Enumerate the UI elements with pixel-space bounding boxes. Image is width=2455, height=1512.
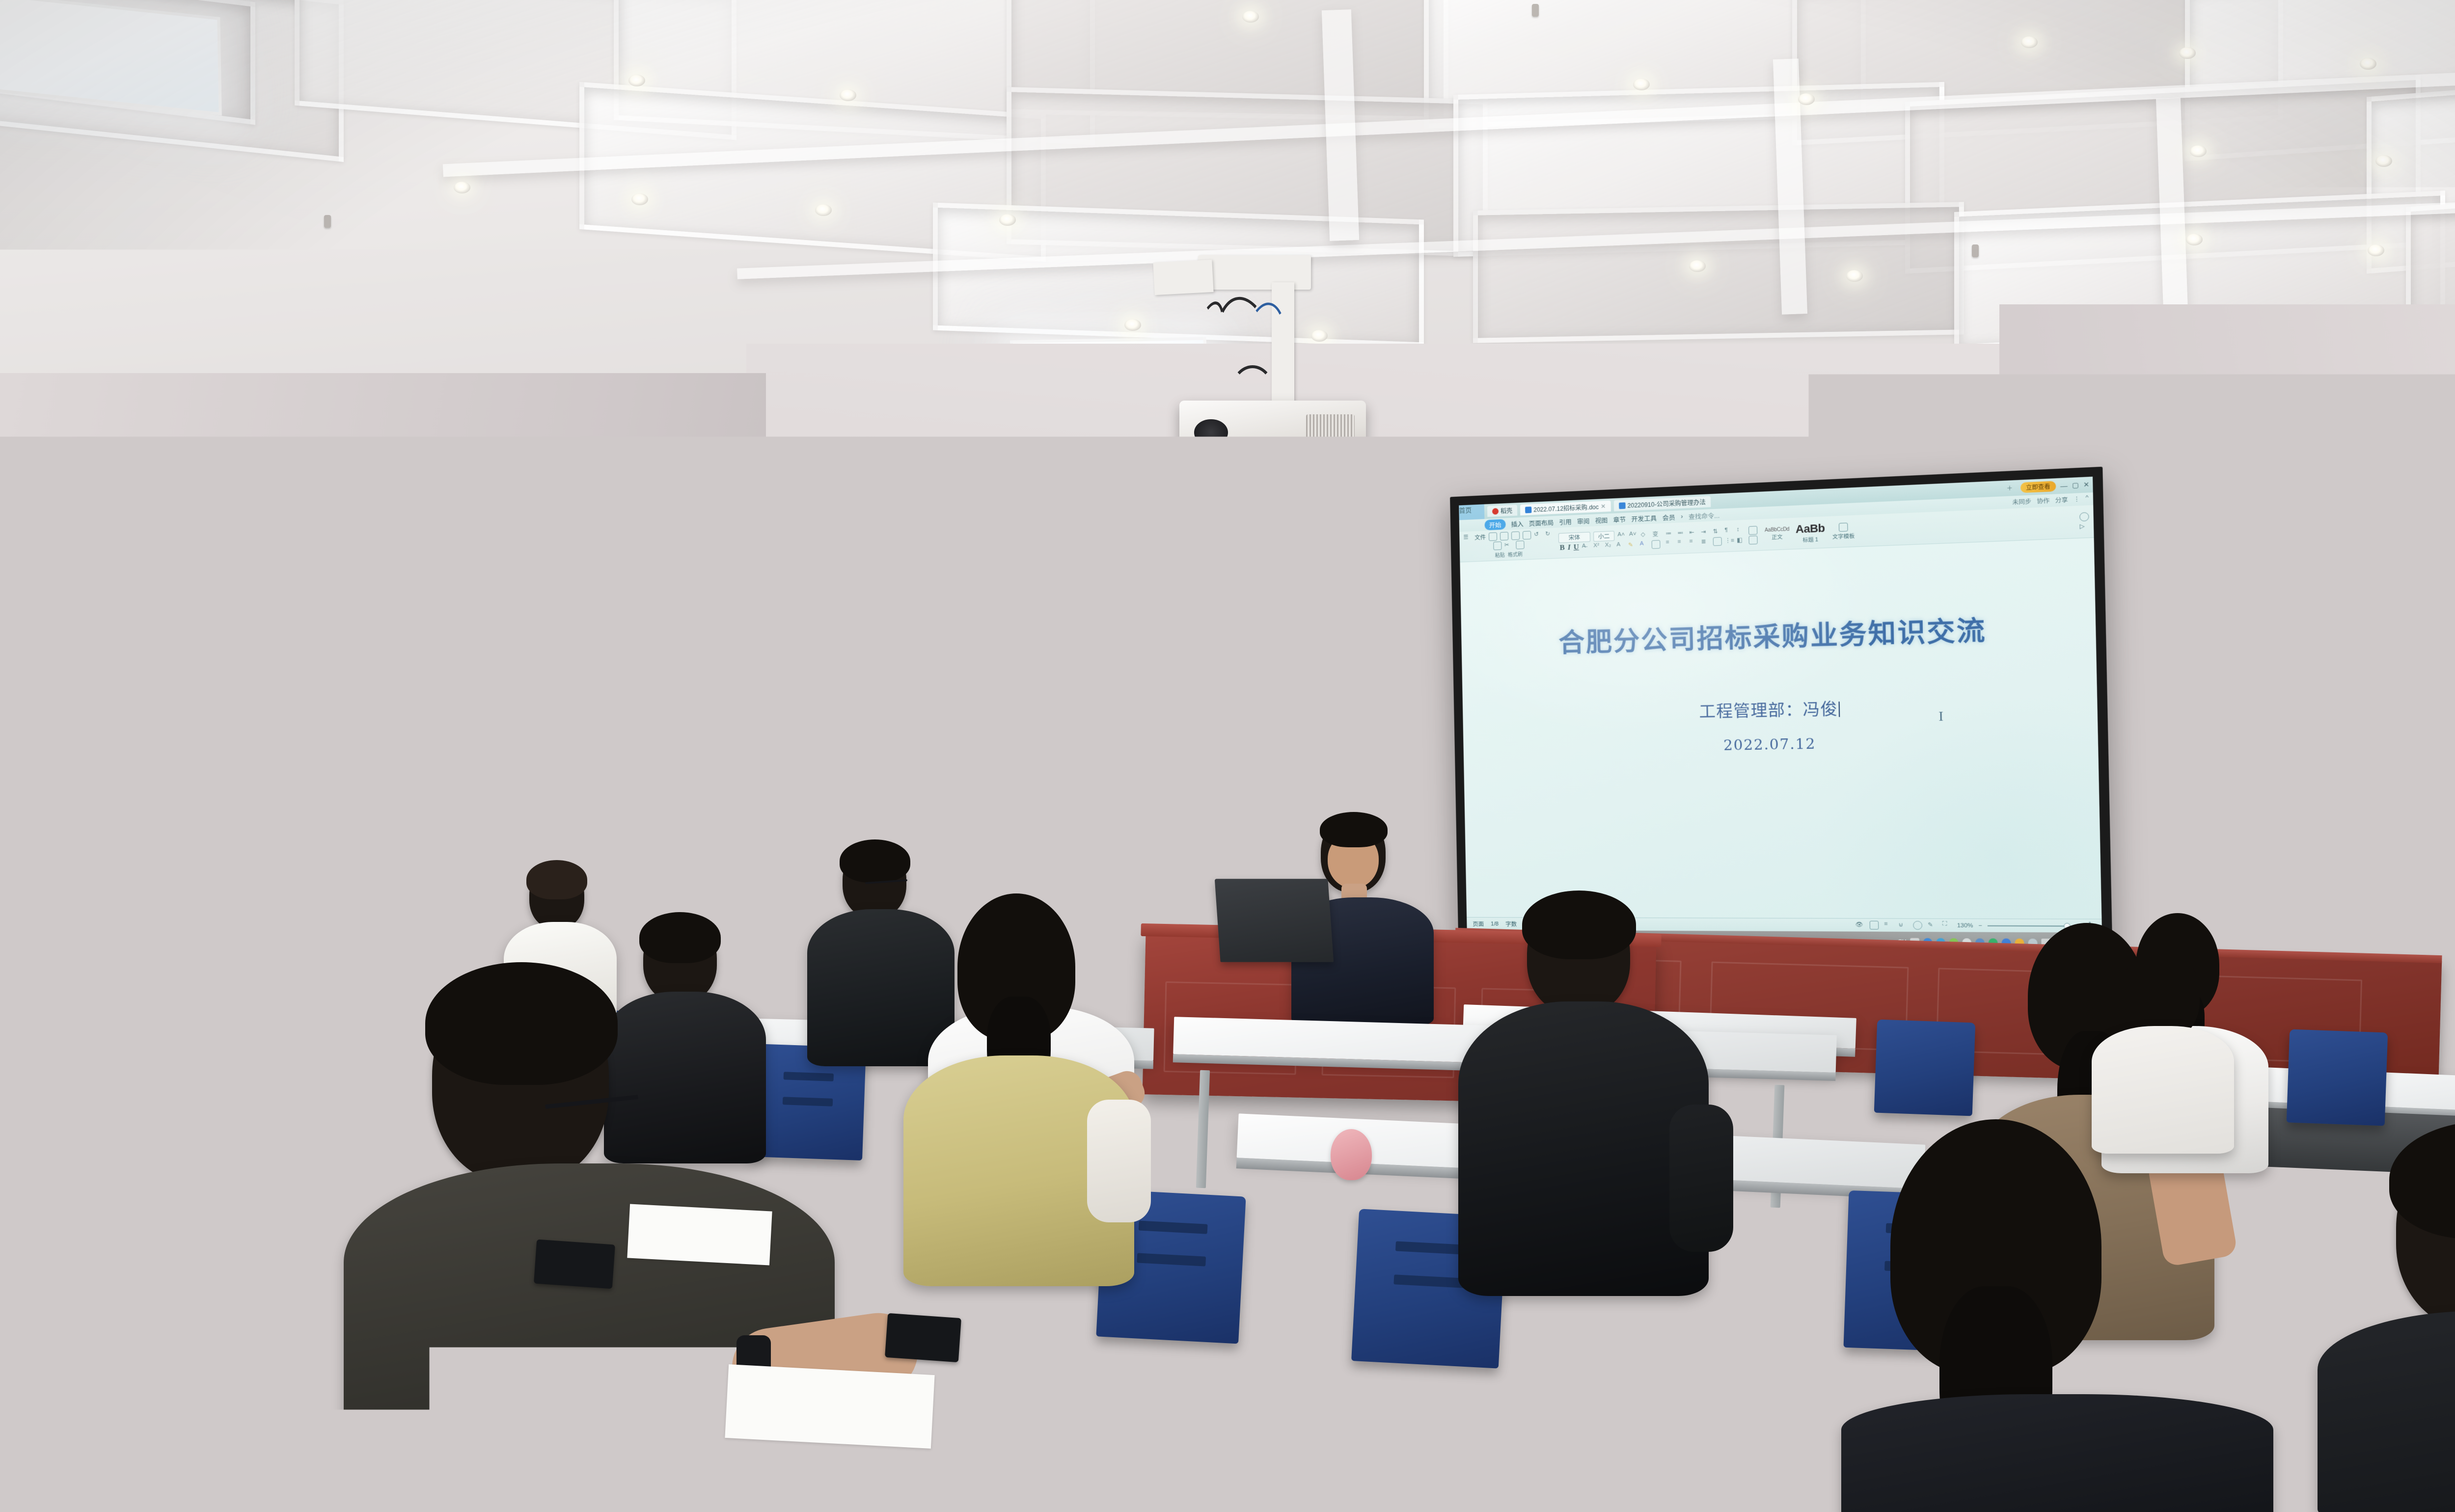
format-painter-icon[interactable]	[1516, 540, 1524, 549]
downlight-icon	[2190, 145, 2207, 157]
save-as-icon[interactable]	[1500, 532, 1508, 540]
text-template-icon[interactable]	[1839, 522, 1848, 532]
attendee-foreground-right-woman	[1792, 1119, 2273, 1512]
sort-icon[interactable]: ⇅	[1713, 527, 1721, 536]
mouse-ibeam-cursor-icon: I	[1938, 708, 1943, 724]
text-caret	[1838, 702, 1840, 717]
shrink-font-icon[interactable]: A˅	[1629, 531, 1638, 540]
search-command-placeholder[interactable]: 查找命令...	[1689, 510, 1720, 521]
ribbon-tab-review[interactable]: 审阅	[1577, 515, 1590, 525]
wps-doc-icon	[1619, 502, 1626, 509]
outline-view-icon[interactable]: ≡	[1884, 921, 1893, 930]
ribbon-tab-member[interactable]: 会员	[1662, 512, 1675, 522]
notebook-page	[725, 1364, 934, 1449]
downlight-icon	[1846, 270, 1863, 282]
downlight-icon	[815, 204, 832, 216]
clear-format-icon[interactable]: ◇	[1641, 530, 1650, 539]
projected-image: 首页 稻壳 2022.07.12招标采购.doc ✕ 20220910-公司采购…	[1459, 477, 2102, 954]
highlight-color-icon[interactable]: ✎	[1628, 541, 1637, 550]
paste-icon[interactable]	[1493, 541, 1501, 550]
italic-button[interactable]: I	[1568, 543, 1571, 552]
borders-icon[interactable]	[1748, 535, 1757, 544]
character-border-icon[interactable]	[1651, 540, 1660, 549]
document-page[interactable]: 合肥分公司招标采购业务知识交流 工程管理部：冯俊 2022.07.12 I	[1460, 538, 2101, 918]
training-room-photo: 装 安徽·安装 27	[0, 0, 2455, 1512]
subscript-icon[interactable]: X₂	[1605, 542, 1614, 551]
align-right-icon[interactable]: ≡	[1690, 538, 1698, 546]
file-menu-button[interactable]: 文件	[1474, 533, 1486, 541]
downlight-icon	[1242, 11, 1259, 23]
chair	[1874, 1020, 1976, 1116]
strikethrough-icon[interactable]: A̶	[1582, 543, 1591, 552]
find-replace-icon[interactable]	[2079, 512, 2089, 521]
woofer-cone-icon	[1031, 552, 1064, 579]
annotate-icon[interactable]: ✎	[1928, 921, 1937, 930]
projector-lens-icon	[1194, 419, 1227, 446]
window-blinds-left: 装 安徽·安装	[0, 457, 746, 923]
downlight-icon	[454, 182, 470, 193]
select-tool-icon[interactable]: ▷	[2079, 522, 2089, 531]
wall-speaker-left	[1017, 516, 1076, 590]
font-size-combobox[interactable]: 小二	[1593, 531, 1614, 541]
presenter-laptop[interactable]	[1215, 879, 1334, 962]
ac-grille	[819, 708, 933, 829]
bullet-list-icon[interactable]: ≔	[1665, 529, 1674, 538]
hamburger-menu-icon[interactable]: ☰	[1463, 533, 1472, 542]
style-body[interactable]: AaBbCcDd 正文	[1762, 527, 1792, 541]
new-tab-plus-icon[interactable]: ＋	[2007, 484, 2016, 493]
text-effects-icon[interactable]: A	[1616, 541, 1625, 550]
ribbon-tab-view[interactable]: 视图	[1595, 515, 1608, 525]
minimize-button[interactable]: —	[2060, 482, 2068, 490]
downlight-icon	[631, 193, 648, 205]
micro-driver-icon	[1028, 538, 1039, 549]
downlight-icon	[1633, 79, 1650, 90]
paste-label: 粘贴	[1495, 551, 1505, 559]
pink-cup[interactable]	[1331, 1129, 1372, 1180]
align-left-icon[interactable]: ≡	[1666, 539, 1675, 547]
attendee-black-tee-center	[1453, 898, 1709, 1301]
superscript-icon[interactable]: X²	[1593, 542, 1602, 551]
text-template-label: 文字模板	[1832, 532, 1855, 540]
tweeter-cone-icon	[1043, 528, 1065, 550]
ribbon-overflow-chevron-icon[interactable]: ›	[1681, 513, 1683, 520]
sprinkler-head-icon	[324, 215, 331, 228]
ceiling-projector	[1124, 255, 1399, 461]
print-preview-icon[interactable]	[1523, 531, 1531, 540]
downlight-icon	[2375, 155, 2392, 167]
numbered-list-icon[interactable]: ≕	[1677, 529, 1686, 538]
wps-tab-document-2-label: 20220910-公司采购管理办法	[1627, 497, 1706, 510]
ribbon-collapse-chevron-icon[interactable]: ^	[2086, 495, 2089, 503]
handout-paper	[627, 1204, 772, 1265]
grow-font-icon[interactable]: A˄	[1617, 531, 1626, 540]
spellcheck-icon[interactable]: 👁	[1855, 921, 1864, 930]
web-layout-view-icon[interactable]: ⊍	[1899, 921, 1908, 930]
banner-text-partial: 装	[0, 658, 36, 719]
close-button[interactable]: ✕	[2083, 481, 2090, 489]
chair	[2287, 1029, 2388, 1126]
downlight-icon	[2360, 58, 2376, 70]
downlight-icon	[628, 75, 645, 86]
anhui-anzhuang-logo	[331, 563, 454, 710]
fit-page-icon[interactable]: ⛶	[1942, 921, 1952, 930]
downlight-icon	[1689, 260, 1706, 272]
style-body-label: 正文	[1772, 533, 1783, 541]
downlight-icon	[999, 214, 1016, 226]
ribbon-tab-home[interactable]: 开始	[1484, 519, 1505, 530]
print-icon[interactable]	[1511, 531, 1520, 540]
redo-icon[interactable]: ↻	[1545, 530, 1554, 539]
reading-view-icon[interactable]	[1913, 921, 1922, 930]
increase-indent-icon[interactable]: ⇥	[1701, 528, 1710, 537]
style-heading-1[interactable]: AaBb 标题 1	[1793, 521, 1828, 544]
vip-banner-button[interactable]: 立即查看	[2020, 481, 2056, 493]
ribbon-tab-section[interactable]: 章节	[1613, 514, 1626, 524]
align-center-icon[interactable]: ≡	[1678, 538, 1687, 547]
decrease-indent-icon[interactable]: ⇤	[1689, 528, 1698, 537]
ribbon-more-icon[interactable]: ⋮	[2073, 495, 2080, 504]
wps-home-tab[interactable]: 首页	[1459, 504, 1484, 520]
phonetic-guide-icon[interactable]: 变	[1652, 530, 1661, 539]
wps-tab-dochub[interactable]: 稻壳	[1487, 505, 1517, 517]
wps-tab-document-1-label: 2022.07.12招标采购.doc	[1533, 502, 1599, 513]
format-painter-label: 格式刷	[1508, 550, 1523, 558]
style-heading-1-preview: AaBb	[1796, 521, 1825, 536]
document-title: 合肥分公司招标采购业务知识交流	[1558, 609, 1987, 659]
print-layout-view-icon[interactable]	[1870, 921, 1879, 930]
maximize-button[interactable]: ▢	[2072, 481, 2079, 490]
sync-status-label[interactable]: 未同步	[2012, 497, 2031, 507]
share-button[interactable]: 分享	[2055, 496, 2068, 505]
projection-screen: 首页 稻壳 2022.07.12招标采购.doc ✕ 20220910-公司采购…	[1450, 467, 2113, 964]
downlight-icon	[2186, 234, 2203, 245]
wps-tab-dochub-label: 稻壳	[1500, 506, 1512, 515]
presenter-hair	[1320, 812, 1388, 847]
banner-text-full: 安徽·安装	[320, 715, 483, 760]
tab-close-icon[interactable]: ✕	[1601, 503, 1606, 510]
shading-icon[interactable]: ◧	[1737, 536, 1746, 544]
undo-icon[interactable]: ↺	[1534, 530, 1542, 539]
document-subtitle-text: 工程管理部：冯俊	[1699, 699, 1838, 721]
ribbon-tab-insert[interactable]: 插入	[1511, 518, 1523, 528]
phone-left-desk[interactable]	[534, 1240, 615, 1289]
smartphone-on-desk[interactable]	[885, 1313, 961, 1362]
wps-tab-document-2[interactable]: 20220910-公司采购管理办法	[1614, 496, 1711, 511]
wps-tab-document-1[interactable]: 2022.07.12招标采购.doc ✕	[1520, 501, 1611, 515]
paragraph-layout-icon[interactable]	[1748, 526, 1757, 535]
bold-button[interactable]: B	[1559, 544, 1564, 553]
style-body-preview: AaBbCcDd	[1765, 527, 1789, 533]
downlight-icon	[2368, 244, 2384, 256]
show-marks-icon[interactable]: ¶	[1724, 527, 1733, 536]
document-date: 2022.07.12	[1723, 735, 1816, 754]
attendee-yellow-vest	[889, 893, 1144, 1286]
projector-vent	[1306, 414, 1355, 450]
font-color-icon[interactable]: A	[1640, 540, 1649, 549]
style-heading-1-label: 标题 1	[1802, 536, 1818, 544]
downlight-icon	[2179, 47, 2196, 59]
ribbon-tab-developer[interactable]: 开发工具	[1631, 513, 1657, 523]
ribbon-tab-references[interactable]: 引用	[1559, 516, 1572, 526]
justify-icon[interactable]: ≣	[1701, 537, 1710, 546]
downlight-icon	[2021, 36, 2038, 48]
attendee-foreground-right-man	[2308, 1134, 2455, 1512]
font-name-combobox[interactable]: 宋体	[1558, 532, 1590, 543]
cut-icon[interactable]: ✂	[1504, 541, 1513, 550]
wps-doc-icon	[1525, 506, 1531, 513]
multilevel-list-icon[interactable]: ⋮≡	[1725, 536, 1734, 545]
collaborate-button[interactable]: 协作	[2037, 496, 2049, 505]
dochub-icon	[1492, 508, 1499, 514]
save-icon[interactable]	[1489, 532, 1497, 541]
downlight-icon	[1798, 93, 1815, 105]
downlight-icon	[840, 89, 856, 101]
sprinkler-head-icon	[1532, 4, 1539, 17]
line-spacing-icon[interactable]: ↕	[1737, 526, 1746, 535]
underline-button[interactable]: U	[1574, 543, 1579, 552]
wps-office-window: 首页 稻壳 2022.07.12招标采购.doc ✕ 20220910-公司采购…	[1459, 477, 2102, 954]
distribute-icon[interactable]	[1713, 537, 1722, 545]
document-subtitle: 工程管理部：冯俊	[1699, 696, 1840, 723]
ribbon-tab-page-layout[interactable]: 页面布局	[1529, 517, 1554, 528]
sprinkler-head-icon	[1972, 244, 1979, 257]
